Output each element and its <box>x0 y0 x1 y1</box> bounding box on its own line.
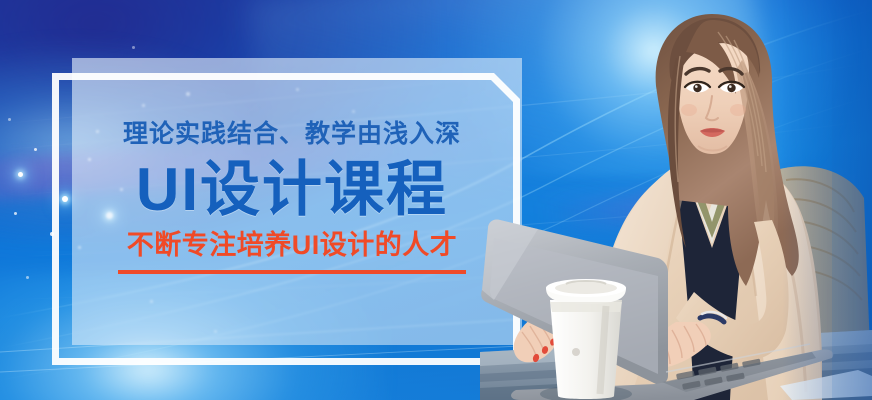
ui-course-banner: 理论实践结合、教学由浅入深 UI设计课程 不断专注培养UI设计的人才 <box>0 0 872 400</box>
tagline-accent: 不断专注培养UI设计的人才 <box>106 230 478 261</box>
photo-woman-with-laptop <box>480 0 872 400</box>
page-title: UI设计课程 <box>106 158 478 221</box>
accent-rule <box>118 270 466 274</box>
copy-block: 理论实践结合、教学由浅入深 UI设计课程 不断专注培养UI设计的人才 <box>106 120 478 274</box>
tagline-top: 理论实践结合、教学由浅入深 <box>106 120 478 150</box>
